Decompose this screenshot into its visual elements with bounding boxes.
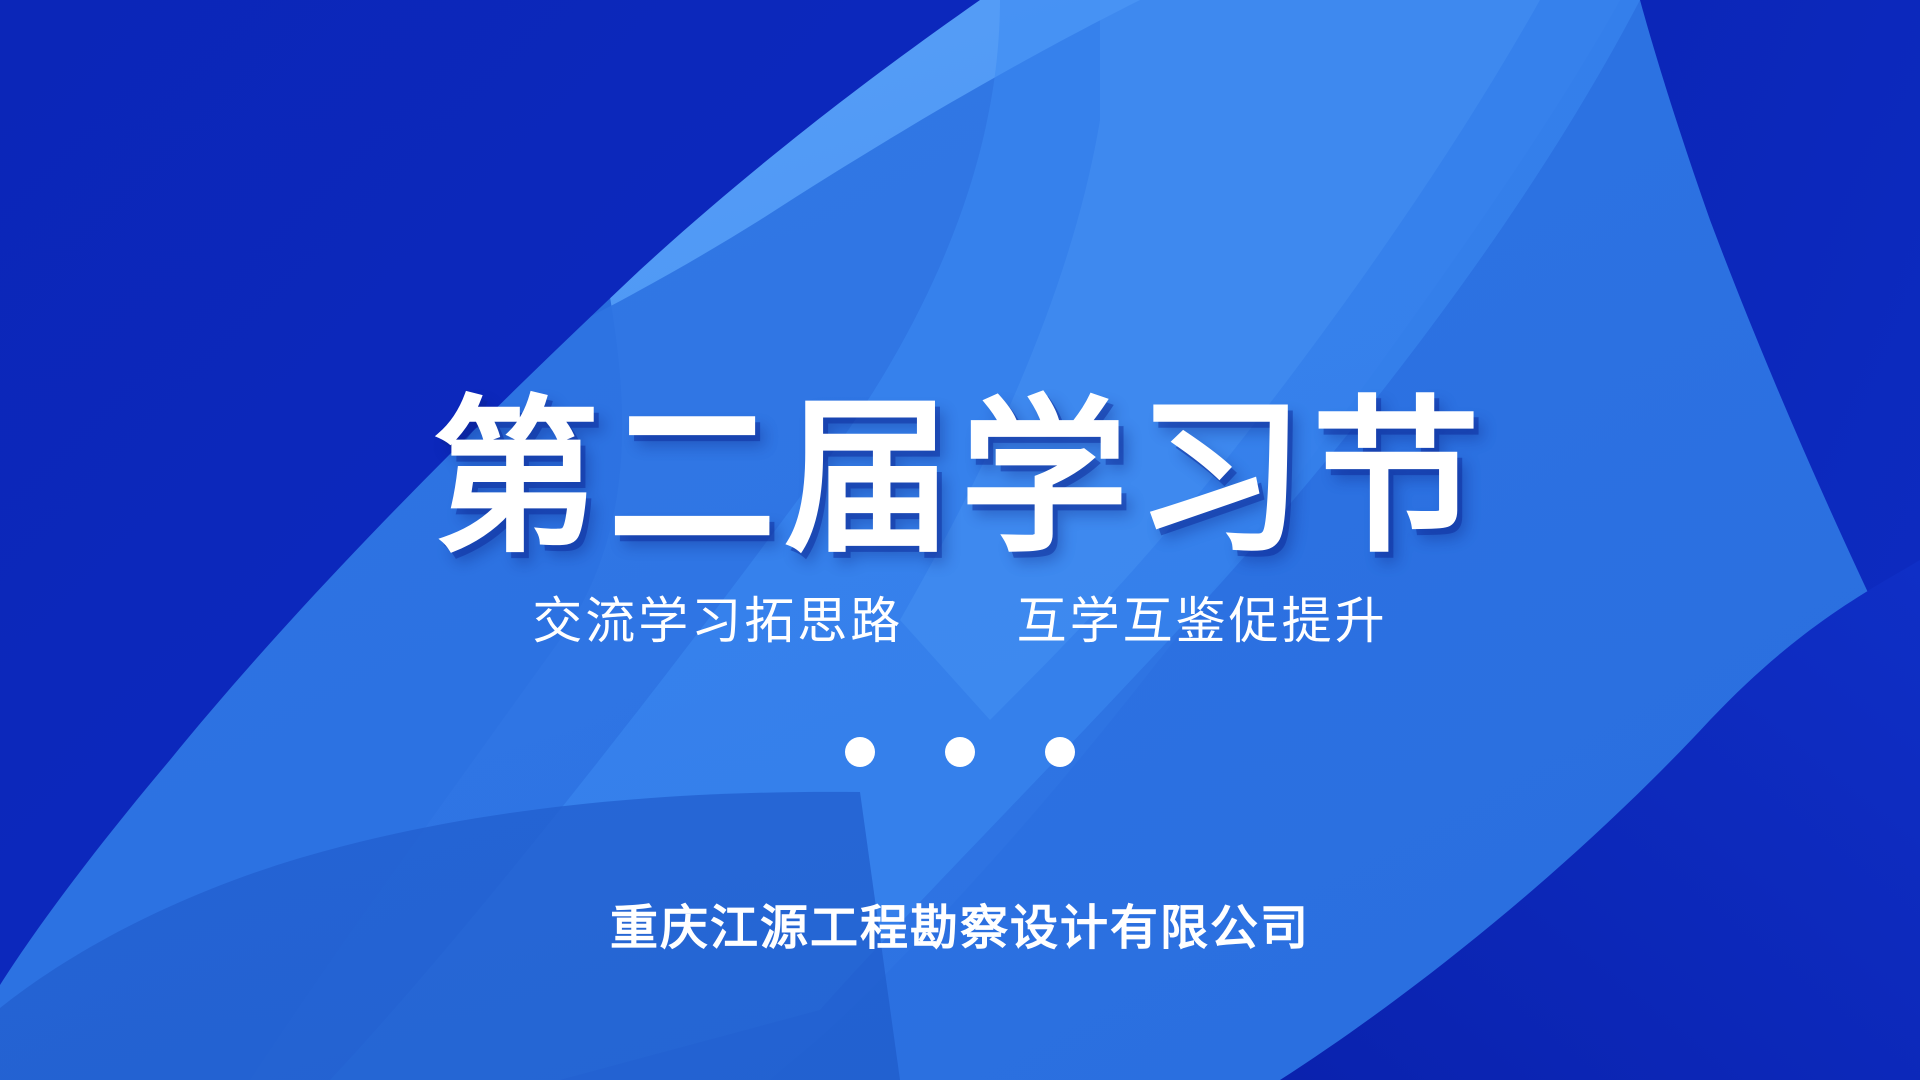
page-title: 第二届学习节: [0, 394, 1920, 562]
poster-subtitle: 交流学习拓思路 互学互鉴促提升: [0, 590, 1920, 653]
divider-dot-3: [1045, 737, 1075, 767]
divider-dot-1: [845, 737, 875, 767]
poster-content: 第二届学习节 交流学习拓思路 互学互鉴促提升 重庆江源工程勘察设计有限公司: [0, 0, 1920, 1080]
divider-dot-2: [945, 737, 975, 767]
poster-canvas: 第二届学习节 交流学习拓思路 互学互鉴促提升 重庆江源工程勘察设计有限公司: [0, 0, 1920, 1080]
company-name: 重庆江源工程勘察设计有限公司: [0, 900, 1920, 958]
dot-divider: [0, 737, 1920, 767]
